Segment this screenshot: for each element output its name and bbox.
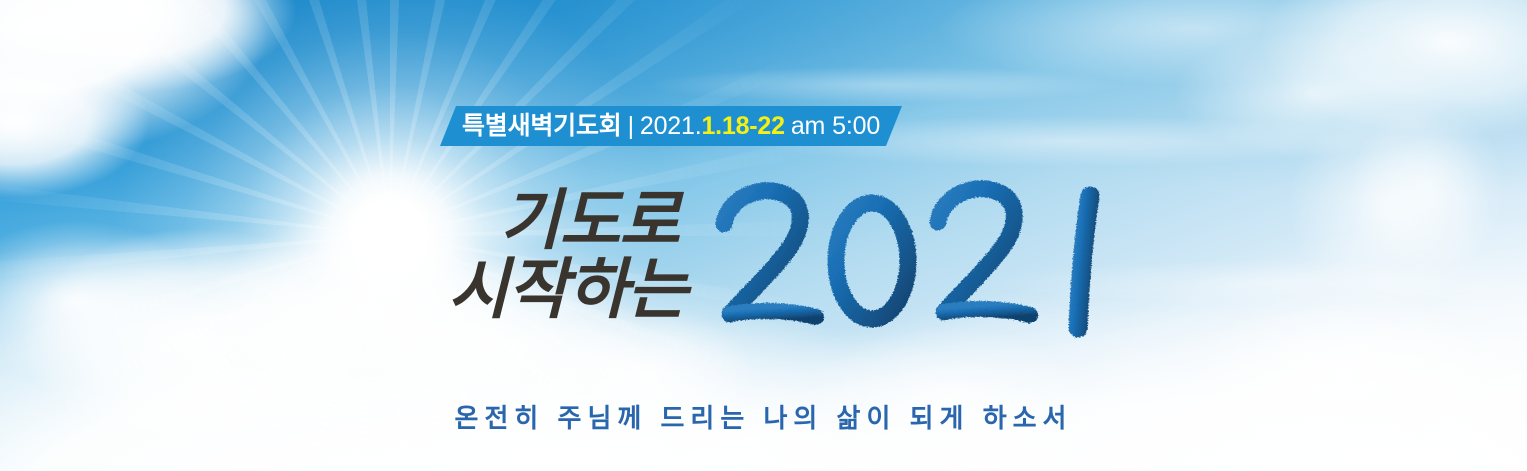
ribbon-date-prefix: 2021.: [640, 112, 702, 140]
ribbon-meridiem: am: [785, 112, 825, 140]
banner-tagline: 온전히 주님께 드리는 나의 삶이 되게 하소서: [0, 398, 1527, 435]
banner-headline: 기도로 시작하는: [448, 186, 748, 323]
event-info-ribbon: 특별새벽기도회|2021.1.18-22am5:00: [440, 106, 902, 146]
ribbon-event-name: 특별새벽기도회: [462, 112, 622, 140]
headline-line-1: 기도로: [448, 186, 748, 255]
ribbon-date-range: 1.18-22: [701, 112, 784, 140]
ribbon-text: 특별새벽기도회|2021.1.18-22am5:00: [462, 114, 880, 139]
ribbon-separator: |: [622, 112, 640, 140]
prayer-meeting-banner: 특별새벽기도회|2021.1.18-22am5:00 기도로 시작하는: [0, 0, 1527, 471]
year-2021-brush-lettering: [712, 178, 1132, 358]
ribbon-time: 5:00: [825, 112, 880, 140]
headline-line-2: 시작하는: [448, 255, 748, 324]
